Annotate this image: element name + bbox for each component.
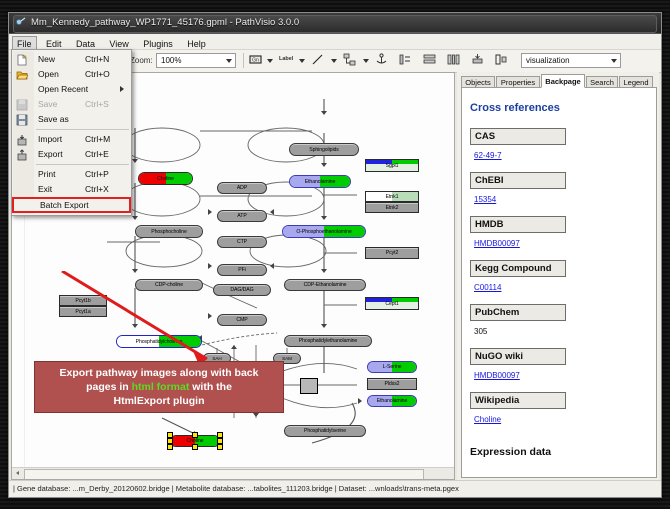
visualization-combobox[interactable]: visualization [521, 53, 621, 68]
xref-value-row: HMDB00097 [470, 365, 652, 392]
arrowhead-icon [253, 413, 259, 417]
annotation-line-2a: pages in [86, 381, 132, 393]
line-icon[interactable] [311, 53, 326, 68]
menu-item-print-label: Print [38, 169, 55, 179]
gene-node[interactable]: Etnk2 [365, 202, 419, 213]
menu-item-import-label: Import [38, 134, 62, 144]
menu-item-exit-label: Exit [38, 184, 52, 194]
gene-node[interactable]: Pcyt2 [365, 247, 419, 259]
gene-node[interactable]: Sgpl1 [365, 159, 419, 172]
annotation-highlight: html format [132, 381, 190, 393]
expression-data-title: Expression data [470, 446, 652, 458]
menu-item-new-accel: Ctrl+N [85, 54, 109, 64]
xref-value-row: HMDB00097 [470, 233, 652, 260]
arrowhead-icon [321, 216, 327, 220]
menu-item-import-accel: Ctrl+M [85, 134, 110, 144]
node-label: Ethanolamine [377, 398, 408, 404]
annotation-line-2b: with the [189, 381, 232, 393]
gene-node[interactable]: Cept1 [365, 297, 419, 310]
metabolite-node[interactable]: Phosphatidylserine [284, 425, 366, 437]
menu-item-save-as[interactable]: Save as [12, 112, 131, 127]
menu-item-open-label: Open [38, 69, 59, 79]
group-icon[interactable] [495, 53, 510, 68]
xref-link[interactable]: HMDB00097 [474, 239, 520, 248]
save-as-icon [16, 114, 28, 126]
xref-link[interactable]: Choline [474, 415, 501, 424]
xref-link[interactable]: C00114 [474, 283, 501, 292]
chevron-down-icon [226, 59, 232, 63]
xref-value-row: 62-49-7 [470, 145, 652, 172]
node-label: Cept1 [385, 301, 398, 307]
submenu-arrow-icon [120, 86, 124, 92]
menu-item-save-accel: Ctrl+S [85, 99, 109, 109]
arrowhead-icon [321, 324, 327, 328]
node-label: O-Phosphoethanolamine [296, 229, 351, 235]
zoom-combobox[interactable]: 100% [156, 53, 236, 68]
node-label: Pcyt2 [386, 250, 398, 256]
arrowhead-icon [132, 159, 138, 163]
window-title-bar: Mm_Kennedy_pathway_WP1771_45176.gpml - P… [9, 13, 661, 34]
node-label: Phosphocholine [151, 229, 187, 235]
menu-item-save: Save Ctrl+S [12, 97, 131, 112]
menu-item-export-label: Export [38, 149, 63, 159]
arrowhead-icon [321, 269, 327, 273]
app-icon [15, 17, 26, 28]
menu-item-batch-export-label: Batch Export [40, 200, 89, 210]
scroll-left-button[interactable] [12, 468, 23, 479]
interaction-dropdown-icon[interactable] [363, 59, 369, 63]
menu-item-new-label: New [38, 54, 55, 64]
arrowhead-icon [270, 209, 274, 215]
node-label: Phosphatidylethanolamine [299, 338, 357, 344]
xref-source-header: Kegg Compound [470, 260, 566, 277]
line-dropdown-icon[interactable] [331, 59, 337, 63]
backpage-panel[interactable]: Cross references CAS62-49-7ChEBI15354HMD… [461, 87, 657, 478]
metabolite-node[interactable]: ADP [217, 182, 267, 194]
annotation-line-3: HtmlExport plugin [114, 395, 205, 407]
arrowhead-icon [321, 163, 327, 167]
metabolite-node[interactable]: Ethanolamine [289, 175, 351, 188]
menu-item-import[interactable]: Import Ctrl+M [12, 132, 131, 147]
metabolite-node[interactable]: Choline [138, 172, 193, 185]
menu-item-save-as-label: Save as [38, 114, 69, 124]
xref-source-header: HMDB [470, 216, 566, 233]
annotation-text: Export pathway images along with back pa… [60, 366, 259, 408]
metabolite-node[interactable]: Sphingolipids [289, 143, 359, 156]
xref-link[interactable]: 15354 [474, 195, 496, 204]
cross-references-title: Cross references [470, 102, 652, 114]
node-label: Choline [157, 176, 174, 182]
group-box[interactable] [300, 378, 318, 394]
arrowhead-icon [321, 111, 327, 115]
xref-link[interactable]: 62-49-7 [474, 151, 502, 160]
menu-separator [36, 129, 129, 130]
side-panel-tabs: Objects Properties Backpage Search Legen… [461, 74, 657, 88]
menu-item-export[interactable]: Export Ctrl+E [12, 147, 131, 162]
arrowhead-icon [358, 398, 362, 404]
arrowhead-icon [208, 263, 212, 269]
node-label: Pldss2 [385, 381, 400, 387]
status-text: | Gene database: ...m_Derby_20120602.bri… [13, 484, 459, 493]
align-icon[interactable] [399, 53, 414, 68]
node-label: Sgpl1 [386, 163, 399, 169]
selection-handle[interactable] [192, 444, 198, 450]
xref-value-row: 15354 [470, 189, 652, 216]
menu-item-open-recent-label: Open Recent [38, 84, 88, 94]
order-icon[interactable] [471, 53, 486, 68]
node-label: Ethanolamine [305, 179, 336, 185]
window-title: Mm_Kennedy_pathway_WP1771_45176.gpml - P… [31, 16, 299, 30]
node-label: Phosphatidylserine [304, 428, 346, 434]
menu-item-export-accel: Ctrl+E [85, 149, 109, 159]
menu-item-open-recent[interactable]: Open Recent [12, 82, 131, 97]
side-panel: Objects Properties Backpage Search Legen… [457, 72, 659, 480]
selection-handle[interactable] [167, 444, 173, 450]
metabolite-node[interactable]: O-Phosphoethanolamine [282, 225, 366, 238]
cross-reference-list: CAS62-49-7ChEBI15354HMDBHMDB00097Kegg Co… [470, 128, 652, 436]
node-label: ATP [237, 213, 246, 219]
xref-source-header: PubChem [470, 304, 566, 321]
menu-item-open[interactable]: Open Ctrl+O [12, 67, 131, 82]
node-label: CMP [236, 317, 247, 323]
node-label: L-Serine [383, 364, 402, 370]
scrollbar-thumb[interactable] [24, 469, 424, 480]
red-arrow-annotation [57, 271, 237, 371]
menu-item-batch-export[interactable]: Batch Export [12, 197, 131, 213]
node-label: Sphingolipids [309, 147, 339, 153]
metabolite-node[interactable]: CDP-Ethanolamine [284, 279, 366, 291]
svg-text:Gn: Gn [252, 58, 259, 64]
node-label: ADP [237, 185, 247, 191]
import-icon [16, 134, 28, 146]
chevron-down-icon [611, 59, 617, 63]
canvas-horizontal-scrollbar[interactable] [12, 467, 454, 479]
xref-value-row: Choline [470, 409, 652, 436]
selection-handle[interactable] [217, 444, 223, 450]
node-label: CDP-Ethanolamine [304, 282, 347, 288]
gene-node[interactable]: Etnk1 [365, 191, 419, 202]
xref-value: 305 [474, 327, 487, 336]
anchor-icon[interactable] [375, 53, 390, 68]
xref-value-row: C00114 [470, 277, 652, 304]
pathvisio-window: Mm_Kennedy_pathway_WP1771_45176.gpml - P… [8, 12, 662, 498]
metabolite-node[interactable]: ATP [217, 210, 267, 222]
node-label: CTP [237, 239, 247, 245]
arrowhead-icon [270, 263, 274, 269]
node-label: Choline [187, 438, 204, 444]
node-label: Etnk1 [386, 194, 399, 200]
gene-node[interactable]: Pldss2 [367, 378, 417, 390]
export-icon [16, 149, 28, 161]
menu-item-open-accel: Ctrl+O [85, 69, 110, 79]
menu-bar: File Edit Data View Plugins Help [9, 34, 661, 50]
annotation-line-1: Export pathway images along with back [60, 367, 259, 379]
file-menu-dropdown[interactable]: New Ctrl+N Open Ctrl+O Open Recent Save … [11, 49, 132, 216]
metabolite-node[interactable]: Phosphocholine [135, 225, 203, 238]
menu-separator [36, 164, 129, 165]
tab-backpage[interactable]: Backpage [541, 74, 585, 88]
folder-open-icon [16, 69, 28, 81]
save-icon [16, 99, 28, 111]
xref-value-row: 305 [470, 321, 652, 348]
menu-item-exit-accel: Ctrl+X [85, 184, 109, 194]
menu-item-print[interactable]: Print Ctrl+P [12, 167, 131, 182]
visualization-value: visualization [526, 56, 570, 65]
new-document-icon [16, 54, 28, 66]
xref-source-header: CAS [470, 128, 566, 145]
label-button-text[interactable]: Label [279, 56, 293, 62]
node-label: Etnk2 [386, 205, 399, 211]
metabolite-node[interactable]: CTP [217, 236, 267, 248]
menu-item-print-accel: Ctrl+P [85, 169, 109, 179]
arrowhead-icon [208, 209, 212, 215]
menu-item-new[interactable]: New Ctrl+N [12, 52, 131, 67]
desktop-background: Mm_Kennedy_pathway_WP1771_45176.gpml - P… [0, 0, 670, 509]
arrowhead-icon [132, 216, 138, 220]
datanode-icon[interactable]: Gn [249, 53, 264, 68]
label-dropdown-icon[interactable] [299, 59, 305, 63]
status-bar: | Gene database: ...m_Derby_20120602.bri… [9, 480, 661, 497]
xref-source-header: ChEBI [470, 172, 566, 189]
stack-icon[interactable] [423, 53, 438, 68]
node-label: PFi [238, 267, 245, 273]
datanode-dropdown-icon[interactable] [267, 59, 273, 63]
metabolite-node[interactable]: Phosphatidylethanolamine [284, 335, 372, 347]
interaction-icon[interactable] [343, 53, 358, 68]
menu-item-exit[interactable]: Exit Ctrl+X [12, 182, 131, 197]
annotation-callout: Export pathway images along with back pa… [34, 361, 284, 413]
zoom-value: 100% [161, 56, 181, 65]
xref-link[interactable]: HMDB00097 [474, 371, 520, 380]
metabolite-node[interactable]: Ethanolamine [367, 395, 417, 407]
metabolite-node[interactable]: L-Serine [367, 361, 417, 373]
distribute-icon[interactable] [447, 53, 462, 68]
zoom-label: Zoom: [130, 56, 153, 65]
xref-source-header: Wikipedia [470, 392, 566, 409]
xref-source-header: NuGO wiki [470, 348, 566, 365]
menu-item-save-label: Save [38, 99, 57, 109]
